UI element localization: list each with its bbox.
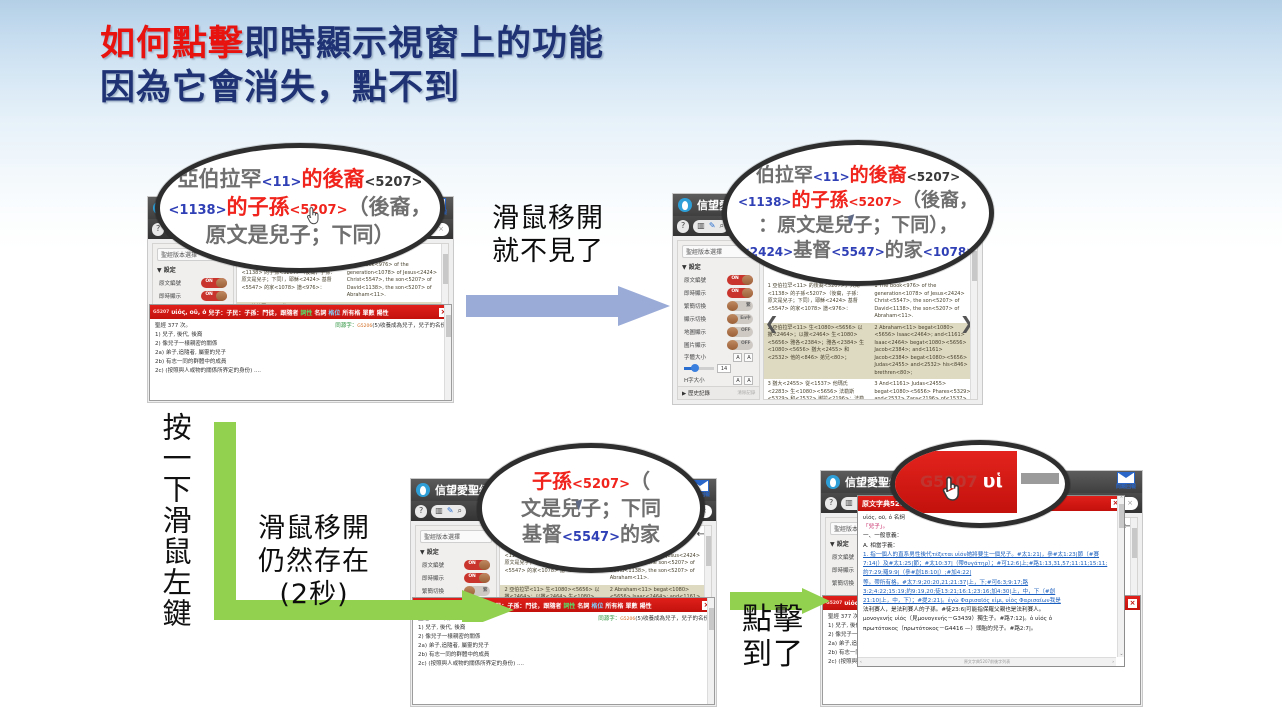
- mag-line: <1138>的子孫<5207>（後裔，: [169, 194, 432, 222]
- pos-tag: 詞性: [300, 308, 312, 317]
- magnifier-content: 子孫<5207>（ 文是兒子；下同 基督<5547>的家: [482, 448, 700, 568]
- app-logo-icon: [826, 475, 840, 489]
- magnifier-content: G5207 υἱ: [895, 445, 1065, 523]
- sense-item: 2c) (按照與人或物的關係所界定的身份) ....: [418, 660, 709, 669]
- scroll-left-icon[interactable]: ‹: [860, 660, 862, 665]
- hfont-larger-button[interactable]: A: [744, 376, 753, 385]
- cognate-line: 同源字：G5206(5)收養成為兒子，兒子的名份: [598, 615, 709, 624]
- toggle-switch[interactable]: OFF: [727, 327, 753, 337]
- row-label: 字體大小: [684, 353, 706, 361]
- magnifier-callout-2: 伯拉罕<11>的後裔<5207> <1138>的子孫<5207>（後裔， ：原文…: [722, 140, 994, 286]
- sense-item: 2a) 弟子,追隨者, 屬靈的兒子: [418, 642, 709, 651]
- title-line-1: 如何點擊即時顯示視窗上的功能: [100, 22, 800, 66]
- title-rest: 即時顯示視窗上的功能: [244, 24, 604, 64]
- sidebar-row-script[interactable]: 繁簡切換 繁: [678, 299, 759, 312]
- dictionary-body: υἱός, οῦ, ὁ 名詞 「兒子」。 一、一般意義： A. 相當字義： 1.…: [858, 511, 1116, 657]
- annotation-middle: 滑鼠移開 仍然存在 (2秒): [258, 512, 370, 612]
- cognate-line: 同源字：G5206(5)收養成為兒子，兒子的名份: [335, 322, 446, 331]
- row-label: 即時顯示: [684, 289, 706, 297]
- row-label: 原文編號: [684, 276, 706, 284]
- annotation-end: 點擊 到了: [742, 602, 804, 673]
- scrollbar[interactable]: [444, 305, 451, 400]
- step1-vertical-label: 按一下滑鼠左鍵: [160, 412, 190, 629]
- verse-chinese: 2 亞伯拉罕<11> 生<1080><5656> 以撒<2464>；以撒<246…: [764, 323, 871, 380]
- verse-columns: 2 亞伯拉罕<11> 生<1080><5656> 以撒<2464>；以撒<246…: [764, 323, 977, 380]
- mag-line: <1138>的子孫<5207>（後裔，: [738, 188, 978, 213]
- font-smaller-button[interactable]: A: [733, 353, 742, 362]
- history-label: ▶ 歷史記錄: [682, 389, 710, 397]
- row-label: 即時顯示: [832, 566, 854, 574]
- app-logo-icon: [678, 198, 692, 212]
- verse-english: 3 And<1161> Judas<2455> begat<1080><5656…: [870, 379, 977, 400]
- dict-line: μονογενής υἱός（見μονογενής－G3439）獨生子。#路7:…: [863, 615, 1111, 624]
- magnifier-content: 亞伯拉罕<11>的後裔<5207> <1138>的子孫<5207>（後裔， 原文…: [160, 148, 440, 268]
- feedback-label: 問題回報: [1116, 484, 1136, 490]
- feedback-badge[interactable]: 問題回報: [1116, 472, 1136, 491]
- annotation-top: 滑鼠移開 就不見了: [492, 203, 604, 269]
- toggle-switch[interactable]: OFF: [727, 340, 753, 350]
- close-icon[interactable]: ×: [1128, 599, 1137, 608]
- title-line-2: 因為它會消失，點不到: [100, 66, 800, 110]
- pen-icon[interactable]: ✎: [709, 222, 716, 230]
- help-icon: ?: [829, 499, 833, 507]
- help-button[interactable]: ?: [825, 497, 837, 510]
- mag-line: ：原文是兒子；下同），: [758, 213, 958, 238]
- sense-item: 2c) (按照與人或物的關係所界定的身份) ....: [155, 367, 446, 376]
- help-icon: ?: [681, 222, 685, 230]
- mag-line: 文是兒子；下同: [521, 495, 661, 521]
- sidebar-row-hfont[interactable]: H字大小 A A: [678, 374, 759, 386]
- strongs-popup-body: 聖經 377 次。 同源字：G5206(5)收養成為兒子，兒子的名份 1) 兒子…: [150, 319, 451, 378]
- mag-greek: υἱ: [983, 469, 1003, 494]
- scroll-right-icon[interactable]: ›: [1112, 660, 1114, 665]
- dict-subsection: A. 相當字義：: [863, 542, 1111, 551]
- magnifier-content: 伯拉罕<11>的後裔<5207> <1138>的子孫<5207>（後裔， ：原文…: [727, 145, 989, 281]
- mag-line: 子孫<5207>（: [532, 468, 650, 494]
- strongs-greek: υἱός, οῦ, ὁ: [171, 309, 206, 316]
- history-clear-button[interactable]: 清除記錄: [737, 390, 755, 396]
- verse-chinese: 3 猶大<2455> 從<1537> 他瑪氏<2283> 生<1080><565…: [764, 379, 871, 400]
- row-label: 原文編號: [832, 553, 854, 561]
- title-highlight: 如何點擊: [100, 24, 244, 64]
- sidebar-row-strongs[interactable]: 原文編號 ON: [153, 276, 233, 289]
- font-size-slider[interactable]: [684, 367, 714, 370]
- row-label: 地圖顯示: [684, 328, 706, 336]
- scroll-thumb[interactable]: [1132, 528, 1137, 558]
- hfont-smaller-button[interactable]: A: [733, 376, 742, 385]
- pos-value: 名詞: [577, 601, 589, 610]
- sidebar-row-image[interactable]: 圖片顯示 OFF: [678, 338, 759, 351]
- prev-chapter-button[interactable]: ❮: [765, 314, 779, 334]
- annotation-line: (2秒): [258, 578, 370, 611]
- bible-count: 聖經 377 次。: [155, 322, 191, 331]
- help-button[interactable]: ?: [677, 220, 689, 233]
- dict-line[interactable]: 1. 指一個人的直系男性後代τέξεται υἱόν她將要生一個兒子。#太1:2…: [863, 551, 1111, 579]
- case-tag: 格位: [591, 601, 603, 610]
- row-label: 即時顯示: [159, 292, 181, 300]
- annotation-line: 就不見了: [492, 236, 604, 269]
- toggle-switch[interactable]: En中: [727, 314, 753, 324]
- row-label: 圖片顯示: [684, 341, 706, 349]
- strongs-popup-header: G5207 υἱός, οῦ, ὁ 兒子：子民：子孫：門徒，跟隨者 詞性 名詞 …: [150, 305, 451, 319]
- toggle-switch[interactable]: ON: [201, 278, 227, 288]
- sidebar-row-map[interactable]: 地圖顯示 OFF: [678, 325, 759, 338]
- mag-line: 原文是兒子；下同）: [206, 222, 395, 250]
- annotation-line: 滑鼠移開: [492, 203, 604, 236]
- scroll-thumb[interactable]: [443, 254, 448, 284]
- layout-icon[interactable]: ▥: [845, 499, 853, 507]
- sense-item: 1) 兒子, 後代, 後裔: [155, 331, 446, 340]
- dict-footer-note: 原文字典5207前後字列表: [964, 659, 1010, 665]
- sense-item: 2b) 有志一同的群體中的成員: [155, 358, 446, 367]
- history-row[interactable]: ▶ 歷史記錄 清除記錄: [678, 386, 759, 399]
- scrollbar-vertical[interactable]: ⌃ ⌄: [1117, 496, 1124, 657]
- mag-line: 基督<5547>的家: [522, 521, 660, 547]
- scrollbar-horizontal[interactable]: ‹ 原文字典5207前後字列表 ›: [858, 657, 1116, 666]
- scroll-up-icon[interactable]: ⌃: [1119, 496, 1124, 502]
- font-size-value[interactable]: 14: [717, 364, 731, 373]
- mag-line: 亞伯拉罕<11>的後裔<5207>: [178, 166, 423, 194]
- case-tag: 格位: [328, 308, 340, 317]
- sense-item: 2) 像兒子一樣親密的關係: [418, 633, 709, 642]
- sense-item: 2b) 有志一同的群體中的成員: [418, 651, 709, 660]
- scrollbar[interactable]: [707, 598, 714, 704]
- dict-line[interactable]: 等。帶所有格。#太7:9;20:20,21;21:37|上，下;#可6:3;9:…: [863, 579, 1111, 588]
- scroll-thumb[interactable]: [1119, 504, 1124, 528]
- row-label: 繁簡切換: [832, 579, 854, 587]
- toggle-switch[interactable]: ON: [201, 291, 227, 301]
- dict-section: 一、一般意義：: [863, 532, 1111, 541]
- magnifier-callout-4: G5207 υἱ: [890, 440, 1070, 528]
- layout-icon[interactable]: ▥: [697, 222, 705, 230]
- sidebar-row-display[interactable]: 顯示切換 En中: [678, 312, 759, 325]
- strongs-gloss: 兒子：子民：子孫：門徒，跟隨者: [208, 308, 298, 317]
- pos-value: 名詞: [314, 308, 326, 317]
- sidebar-row-instant[interactable]: 即時顯示 ON: [153, 289, 233, 302]
- toggle-switch[interactable]: 繁: [727, 301, 753, 311]
- font-larger-button[interactable]: A: [744, 353, 753, 362]
- annotation-line: 到了: [742, 637, 804, 672]
- case-value: 所有格 單數 陽性: [342, 308, 388, 317]
- scroll-thumb[interactable]: [706, 536, 711, 566]
- sense-item: 1) 兒子, 後代, 後裔: [418, 624, 709, 633]
- search-clear-icon[interactable]: ×: [1127, 499, 1133, 507]
- magnifier-callout-1: 亞伯拉罕<11>的後裔<5207> <1138>的子孫<5207>（後裔， 原文…: [155, 143, 445, 273]
- sense-item: 2a) 弟子,追隨者, 屬靈的兒子: [155, 349, 446, 358]
- dict-line[interactable]: 3:2;4:22;15:19;約9:19,20;徒13:21;16:1;23:1…: [863, 588, 1111, 597]
- dict-line[interactable]: 21:10|上，中，下）；#提2:21|。ἐγὼ Φαρισαῖός εἰμι,…: [863, 597, 1111, 606]
- row-label: 繁簡切換: [684, 302, 706, 310]
- toggle-switch[interactable]: ON: [727, 288, 753, 298]
- scroll-thumb[interactable]: [709, 608, 714, 630]
- annotation-line: 點擊: [742, 602, 804, 637]
- case-value: 所有格 單數 陽性: [605, 601, 651, 610]
- mag-line: 伯拉罕<11>的後裔<5207>: [756, 163, 960, 188]
- sidebar-row-fontsize[interactable]: 字體大小 A A: [678, 351, 759, 363]
- annotation-line: 滑鼠移開: [258, 512, 370, 545]
- verse-columns: 3 猶大<2455> 從<1537> 他瑪氏<2283> 生<1080><565…: [764, 379, 977, 400]
- mag-strongs-code: G5207: [920, 471, 978, 492]
- pos-tag: 詞性: [563, 601, 575, 610]
- font-size-slider-row[interactable]: 14: [678, 363, 759, 374]
- mail-icon: [1117, 472, 1135, 484]
- row-label: 顯示切換: [684, 315, 706, 323]
- mag-red-banner: G5207 υἱ: [895, 451, 1017, 513]
- scroll-down-icon[interactable]: ⌄: [1119, 651, 1124, 657]
- page-title: 如何點擊即時顯示視窗上的功能 因為它會消失，點不到: [100, 22, 800, 110]
- annotation-line: 仍然存在: [258, 545, 370, 578]
- dict-line: πρωτότοκος（πρωτότοκος－G4416 —）頭胎的兒子。#路2:…: [863, 625, 1111, 634]
- dict-line: 法利賽人，是法利賽人的子孫。#徒23:6|可能指保羅父親也是法利賽人。: [863, 606, 1111, 615]
- strongs-code: G5207: [153, 310, 169, 315]
- row-label: 原文編號: [159, 279, 181, 287]
- verse-chinese: 1 亞伯拉罕<11> 的後裔<5207>，大衛<1138> 的子孫<5207>（…: [764, 281, 871, 323]
- scroll-thumb[interactable]: [446, 315, 451, 337]
- strongs-popup: G5207 υἱός, οῦ, ὁ 兒子：子民：子孫：門徒，跟隨者 詞性 名詞 …: [149, 304, 452, 401]
- blue-arrow-icon: [466, 286, 670, 326]
- mag-line: <2424>基督<5547>的家<1078>: [740, 238, 977, 263]
- sidebar-row-instant[interactable]: 即時顯示 ON: [678, 286, 759, 299]
- sense-item: 2) 像兒子一樣親密的關係: [155, 340, 446, 349]
- mag-gray-chip: [1021, 473, 1059, 484]
- row-label: H字大小: [684, 376, 705, 384]
